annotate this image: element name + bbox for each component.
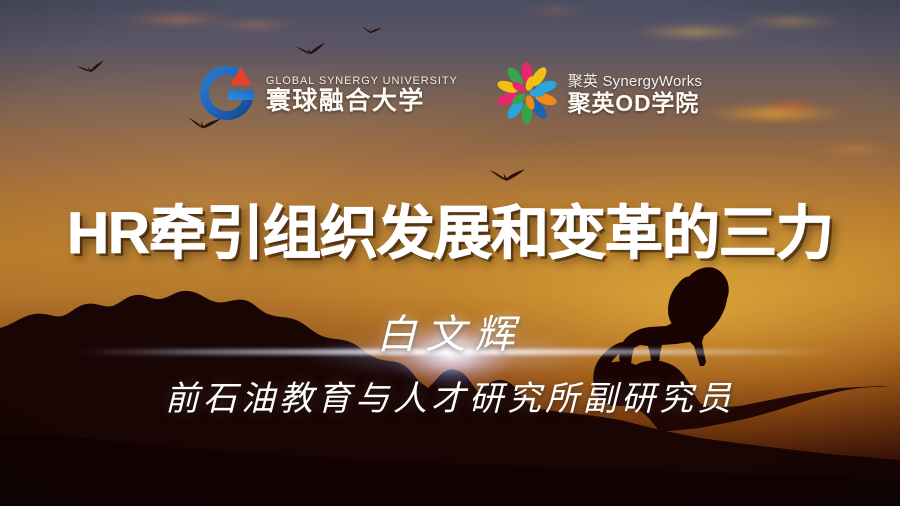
synergyworks-chinese-name: 聚英OD学院 [568,90,702,118]
gsu-english-name: GLOBAL SYNERGY UNIVERSITY [266,75,458,87]
synergyworks-logo-text: 聚英 SynergyWorks 聚英OD学院 [568,73,702,118]
cloud-streak [736,18,846,25]
cloud-streak [630,28,760,36]
multicolor-petal-flower-icon [496,62,558,129]
synergyworks-english-name: 聚英 SynergyWorks [568,73,702,90]
bird-icon [295,43,327,60]
gsu-logo-text: GLOBAL SYNERGY UNIVERSITY 寰球融合大学 [266,75,458,117]
bird-icon [488,167,526,186]
cloud-streak [520,8,590,13]
slide-headline: HR牵引组织发展和变革的三力 [0,186,900,270]
logo-synergyworks-od-academy: 聚英 SynergyWorks 聚英OD学院 [496,62,702,129]
cloud-streak [118,16,238,23]
speaker-title: 前石油教育与人才研究所副研究员 [0,371,900,420]
presentation-title-slide: GLOBAL SYNERGY UNIVERSITY 寰球融合大学 [0,0,900,506]
speaker-name: 白文辉 [0,302,900,360]
logo-bar: GLOBAL SYNERGY UNIVERSITY 寰球融合大学 [0,62,900,129]
cloud-streak [210,22,300,28]
logo-global-synergy-university: GLOBAL SYNERGY UNIVERSITY 寰球融合大学 [198,64,458,127]
blue-g-arrow-icon [198,64,256,127]
cloud-streak [810,146,900,152]
gsu-chinese-name: 寰球融合大学 [266,87,458,117]
